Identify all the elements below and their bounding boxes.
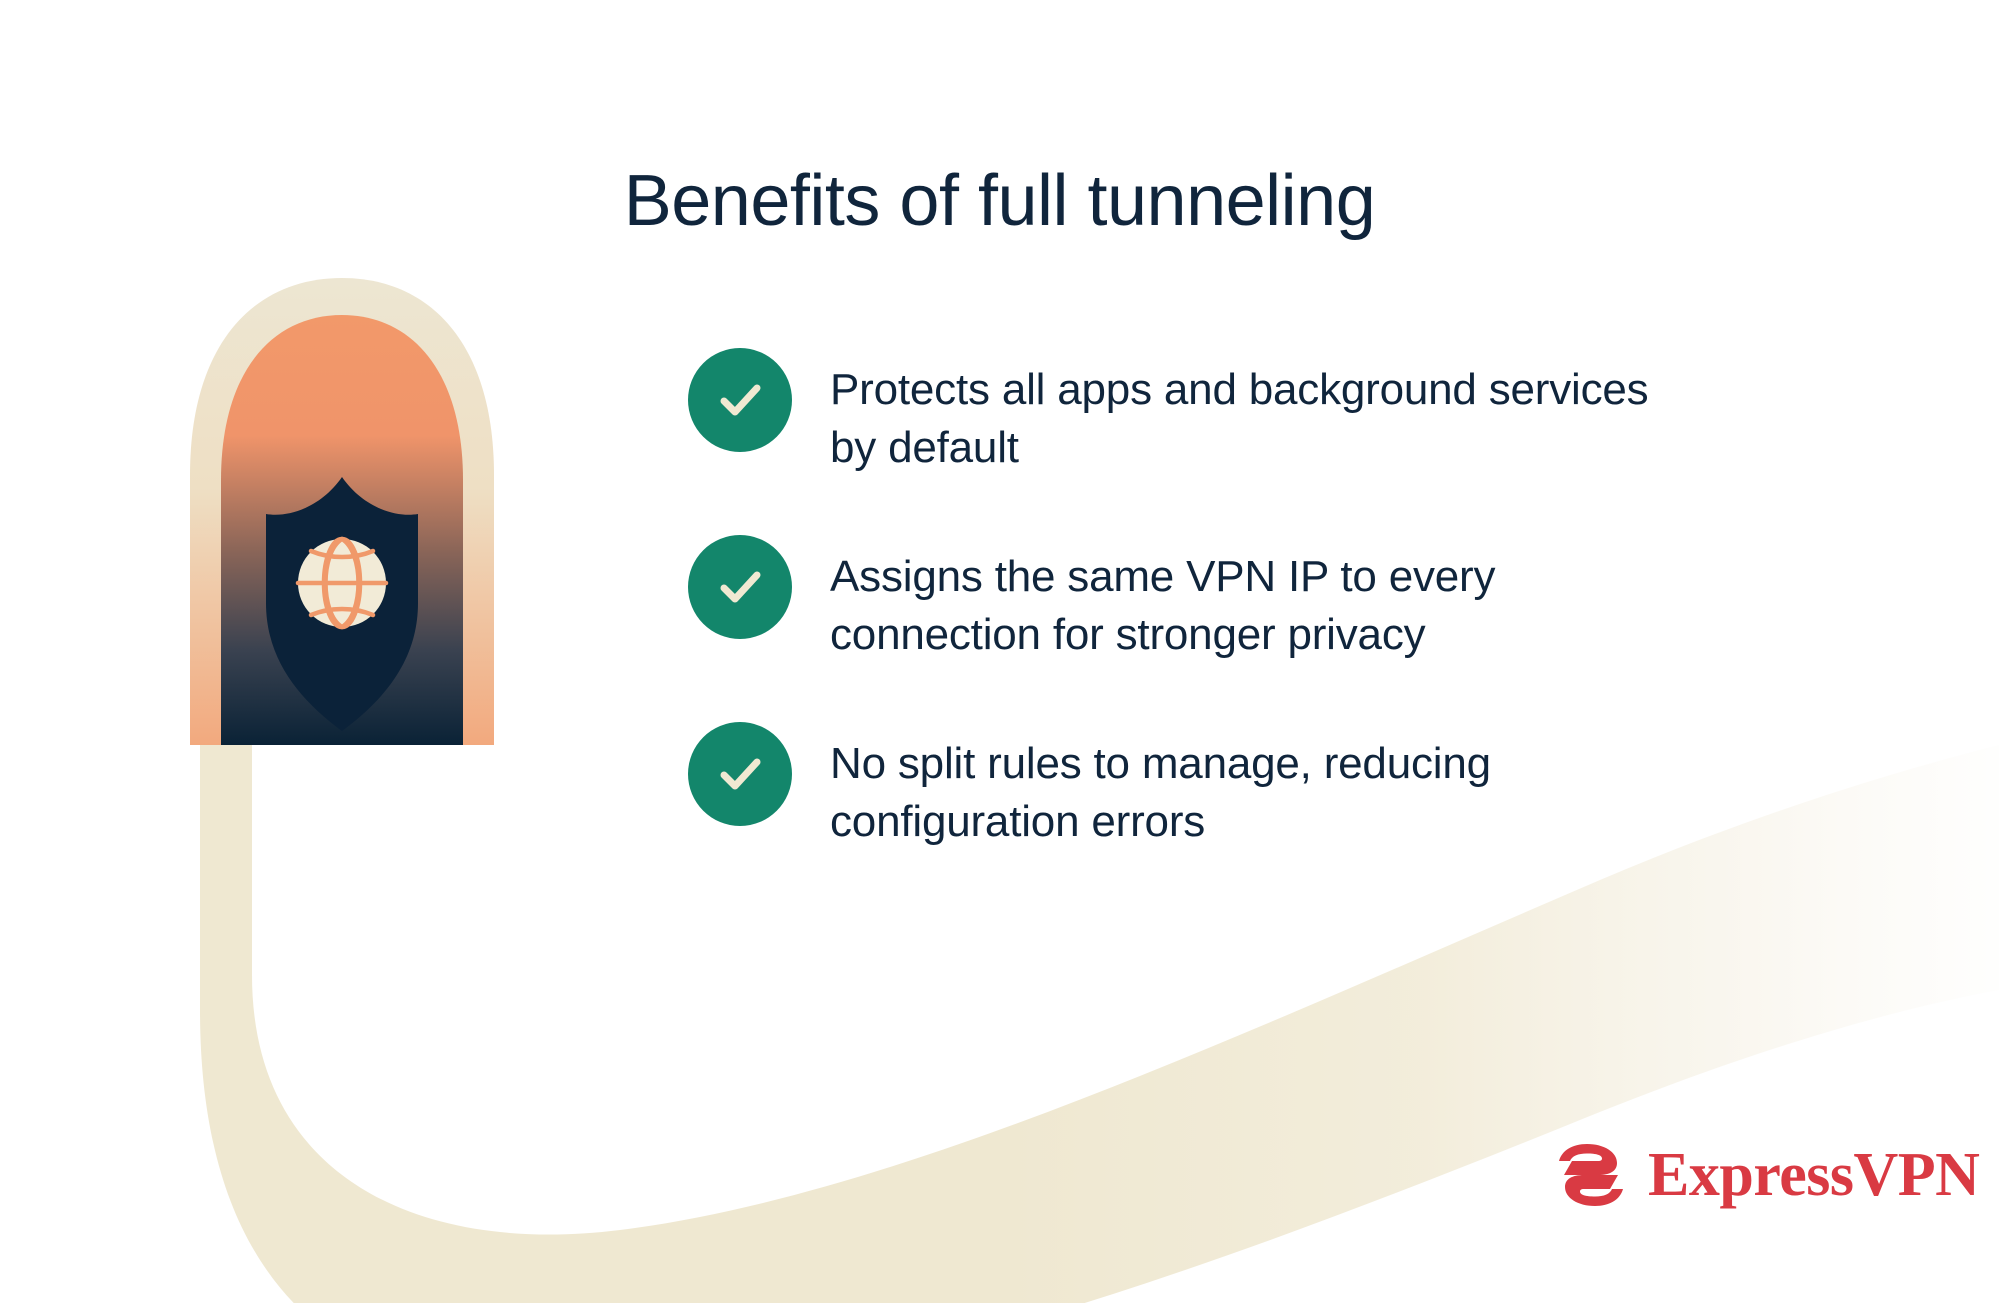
check-icon [688,535,792,639]
list-item: Assigns the same VPN IP to every connect… [688,535,1698,664]
check-icon [688,348,792,452]
expressvpn-e-mark [1554,1142,1628,1208]
infographic-canvas: Benefits of full tunneling Protects all … [0,0,1999,1303]
list-item: Protects all apps and background service… [688,348,1698,477]
benefit-label: Protects all apps and background service… [830,348,1698,477]
benefit-list: Protects all apps and background service… [688,348,1698,851]
expressvpn-logo: ExpressVPN [1554,1142,1979,1208]
vpn-tunnel-arch [190,278,494,745]
benefit-label: Assigns the same VPN IP to every connect… [830,535,1698,664]
shield-icon [266,477,418,731]
benefit-label: No split rules to manage, reducing confi… [830,722,1698,851]
page-title: Benefits of full tunneling [0,162,1999,241]
list-item: No split rules to manage, reducing confi… [688,722,1698,851]
globe-icon [298,539,386,627]
brand-wordmark: ExpressVPN [1648,1144,1979,1206]
check-icon [688,722,792,826]
